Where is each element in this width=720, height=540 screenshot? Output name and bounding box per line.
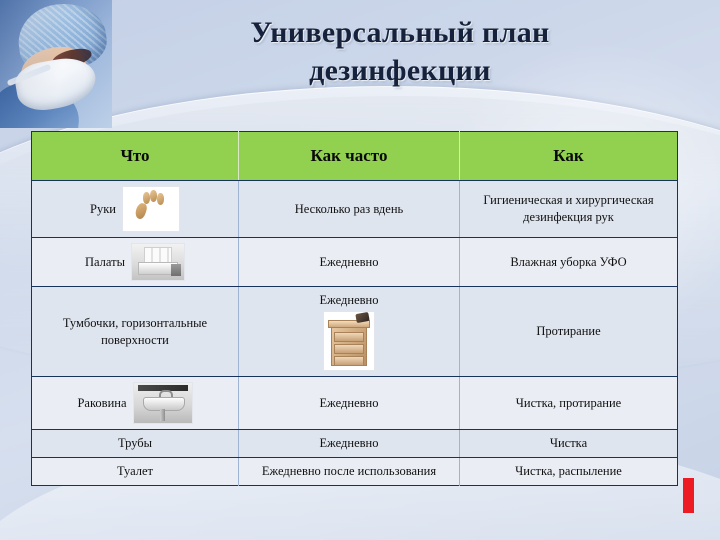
page-title-line-2: дезинфекции xyxy=(120,52,680,90)
sink-icon xyxy=(133,382,193,424)
table-row: Трубы Ежедневно Чистка xyxy=(32,430,678,458)
page-title: Универсальный план дезинфекции xyxy=(120,14,680,90)
cell-what-label: Палаты xyxy=(85,254,125,271)
column-header-how-often: Как часто xyxy=(239,132,460,181)
hospital-room-icon xyxy=(131,243,185,281)
cell-how: Чистка, протирание xyxy=(460,377,678,430)
cell-what-label: Руки xyxy=(90,201,116,218)
cell-how: Чистка xyxy=(460,430,678,458)
red-accent-bar xyxy=(683,478,694,513)
cell-what: Трубы xyxy=(32,430,239,458)
cell-what: Раковина xyxy=(32,377,239,430)
table-row: Тумбочки, горизонтальные поверхности Еже… xyxy=(32,287,678,377)
column-header-how: Как xyxy=(460,132,678,181)
page-title-line-1: Универсальный план xyxy=(120,14,680,52)
table-row: Руки Несколько раз вдень Гигиеническая и… xyxy=(32,181,678,238)
cell-how-often: Ежедневно после использования xyxy=(239,458,460,486)
cell-how-often: Несколько раз вдень xyxy=(239,181,460,238)
table-header-row: Что Как часто Как xyxy=(32,132,678,181)
nightstand-icon xyxy=(323,311,375,371)
cell-what: Руки xyxy=(32,181,239,238)
table-row: Палаты Ежедневно Влажная уборка УФО xyxy=(32,238,678,287)
cell-how: Протирание xyxy=(460,287,678,377)
cell-what-label: Раковина xyxy=(77,395,126,412)
cell-how-often: Ежедневно xyxy=(239,377,460,430)
cell-what: Палаты xyxy=(32,238,239,287)
cell-how-often: Ежедневно xyxy=(239,430,460,458)
disinfection-plan-table: Что Как часто Как Руки xyxy=(31,131,678,486)
cell-how-often: Ежедневно xyxy=(239,238,460,287)
cell-how-often: Ежедневно xyxy=(239,287,460,377)
cell-how: Гигиеническая и хирургическая дезинфекци… xyxy=(460,181,678,238)
photo-shade xyxy=(0,0,112,128)
hand-icon xyxy=(122,186,180,232)
cell-what: Тумбочки, горизонтальные поверхности xyxy=(32,287,239,377)
table-row: Раковина Ежедневно Чистка, протирание xyxy=(32,377,678,430)
cell-what: Туалет xyxy=(32,458,239,486)
column-header-what: Что xyxy=(32,132,239,181)
table-row: Туалет Ежедневно после использования Чис… xyxy=(32,458,678,486)
surgeon-photo xyxy=(0,0,112,128)
slide-canvas: Универсальный план дезинфекции Что Как ч… xyxy=(0,0,720,540)
cell-how: Влажная уборка УФО xyxy=(460,238,678,287)
cell-how: Чистка, распыление xyxy=(460,458,678,486)
cell-how-often-label: Ежедневно xyxy=(320,292,379,309)
